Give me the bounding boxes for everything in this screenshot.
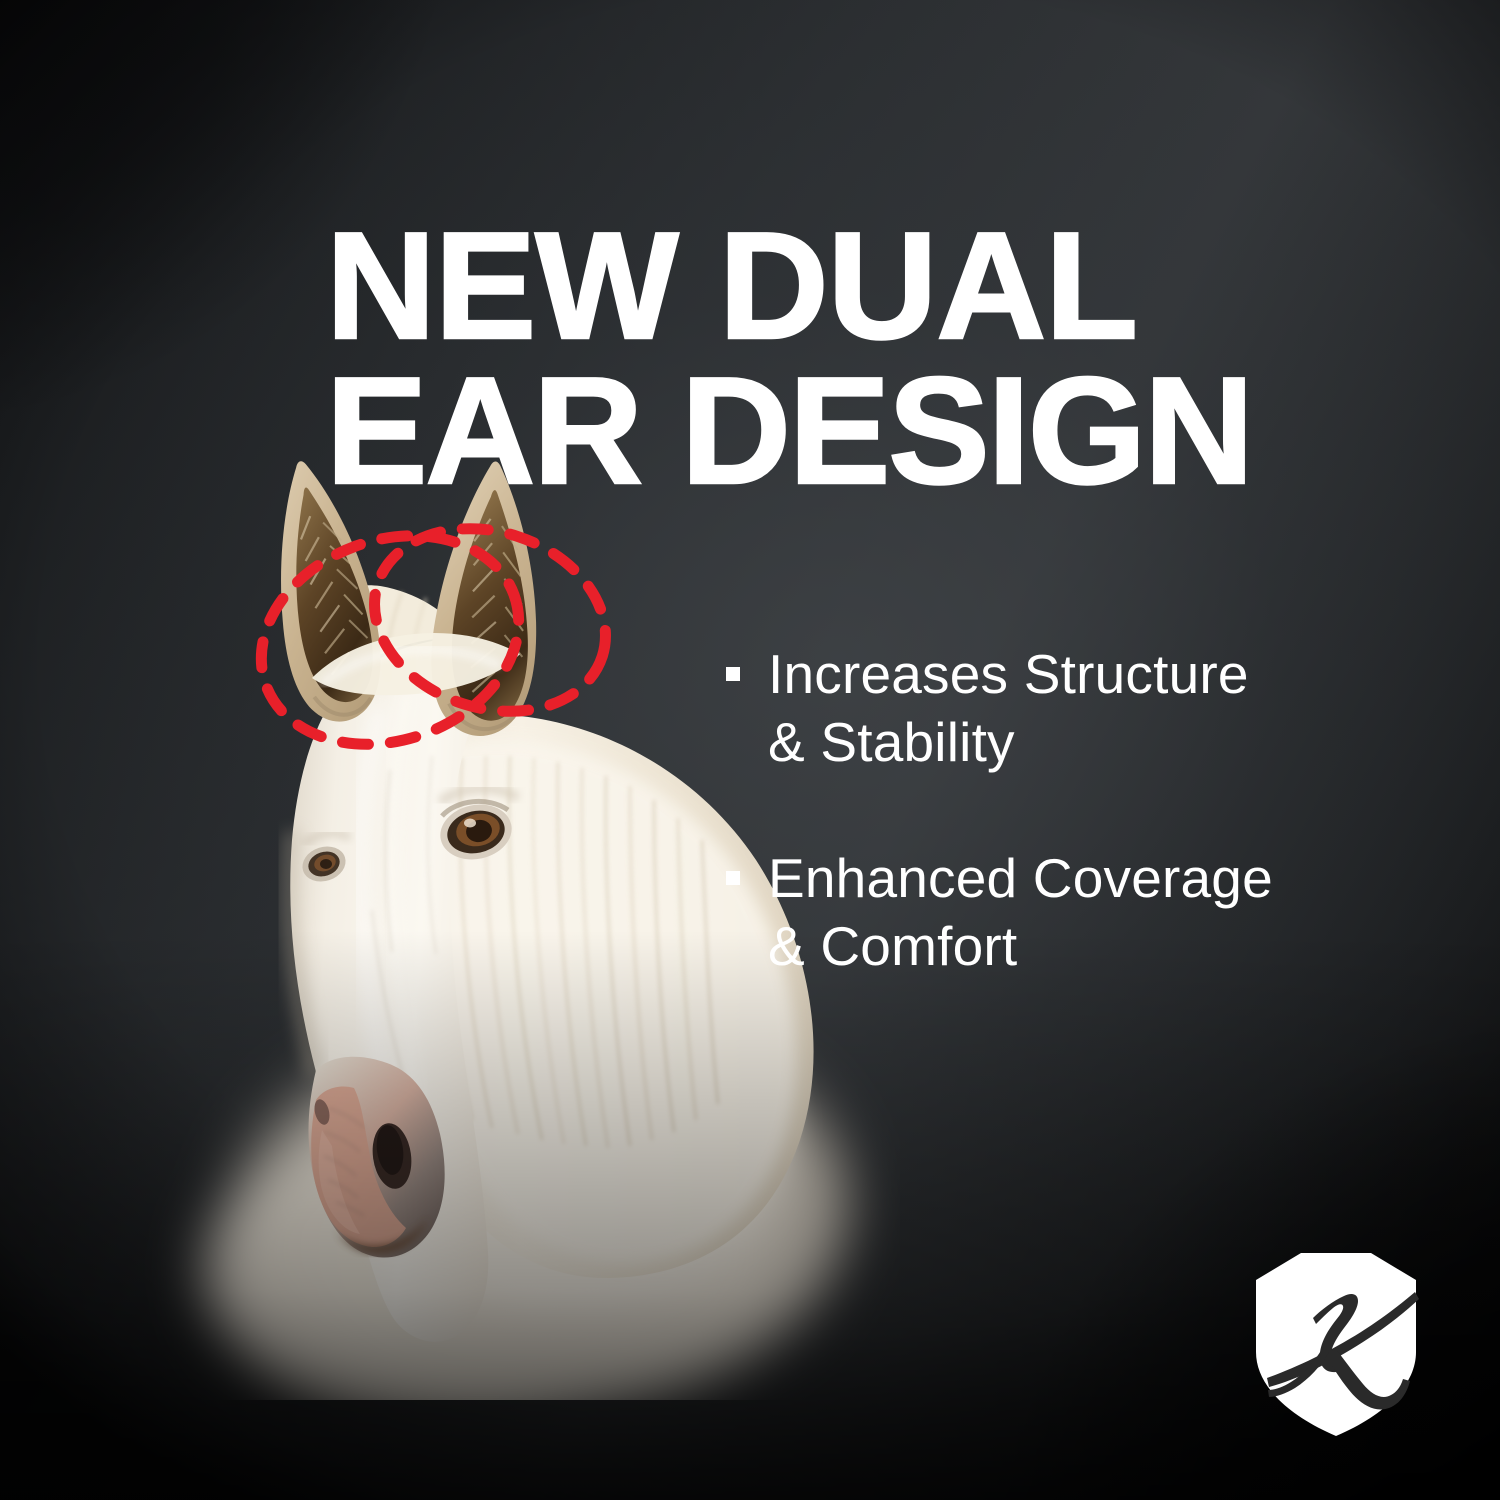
bullet-text-line-2: & Comfort bbox=[768, 912, 1424, 980]
list-item: Enhanced Coverage & Comfort bbox=[724, 844, 1424, 980]
headline-line-1: NEW DUAL bbox=[326, 214, 1436, 359]
bullet-text-line-2: & Stability bbox=[768, 708, 1424, 776]
brand-shield-logo bbox=[1243, 1248, 1429, 1440]
product-feature-banner: NEW DUAL EAR DESIGN Increases Structure … bbox=[0, 0, 1500, 1500]
bullet-square-icon bbox=[726, 667, 740, 681]
bullet-text-line-1: Increases Structure bbox=[768, 640, 1424, 708]
shield-icon bbox=[1256, 1253, 1416, 1436]
bullet-square-icon bbox=[726, 871, 740, 885]
headline-line-2: EAR DESIGN bbox=[326, 359, 1436, 504]
feature-bullet-list: Increases Structure & Stability Enhanced… bbox=[724, 640, 1424, 980]
page-title: NEW DUAL EAR DESIGN bbox=[326, 214, 1436, 504]
list-item: Increases Structure & Stability bbox=[724, 640, 1424, 776]
bullet-text-line-1: Enhanced Coverage bbox=[768, 844, 1424, 912]
